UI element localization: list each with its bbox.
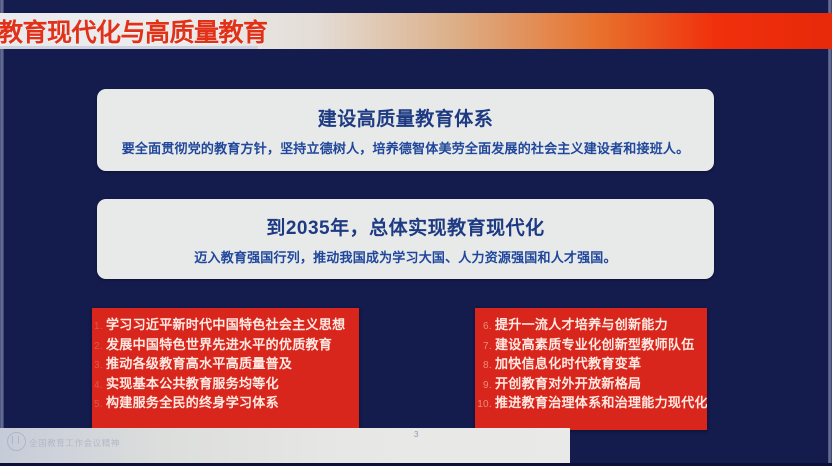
list-item: 3. 推动各级教育高水平高质量普及 — [92, 353, 359, 373]
list-item: 10. 推进教育治理体系和治理能力现代化 — [477, 392, 707, 412]
organization-logo-icon — [7, 432, 26, 451]
list-item-number: 1. — [92, 321, 103, 332]
info-card-education-system: 建设高质量教育体系 要全面贯彻党的教育方针，坚持立德树人，培养德智体美劳全面发展… — [97, 89, 714, 171]
list-item: 1. 学习习近平新时代中国特色社会主义思想 — [92, 314, 359, 334]
list-item-number: 2. — [92, 341, 103, 352]
list-item: 9. 开创教育对外开放新格局 — [477, 373, 707, 393]
page-title: 教育现代化与高质量教育 — [0, 13, 268, 49]
list-item-label: 提升一流人才培养与创新能力 — [495, 314, 668, 333]
list-item-label: 学习习近平新时代中国特色社会主义思想 — [106, 314, 345, 333]
list-item-number: 6. — [477, 321, 492, 332]
list-item: 8. 加快信息化时代教育变革 — [477, 353, 707, 373]
list-item-number: 9. — [477, 380, 492, 391]
list-item-number: 7. — [477, 341, 492, 352]
slide-left-edge — [0, 0, 4, 466]
list-item: 7. 建设高素质专业化创新型教师队伍 — [477, 334, 707, 354]
title-underline — [0, 46, 258, 49]
list-item-label: 实现基本公共教育服务均等化 — [106, 373, 279, 392]
red-list-box-left: 1. 学习习近平新时代中国特色社会主义思想 2. 发展中国特色世界先进水平的优质… — [92, 308, 359, 430]
list-item-number: 4. — [92, 380, 103, 391]
list-item-number: 5. — [92, 399, 103, 410]
list-item-label: 加快信息化时代教育变革 — [495, 353, 641, 372]
card-body: 迈入教育强国行列，推动我国成为学习大国、人力资源强国和人才强国。 — [194, 247, 616, 266]
card-body: 要全面贯彻党的教育方针，坚持立德树人，培养德智体美劳全面发展的社会主义建设者和接… — [122, 138, 690, 157]
list-item-label: 推进教育治理体系和治理能力现代化 — [495, 392, 707, 411]
list-item-label: 发展中国特色世界先进水平的优质教育 — [106, 334, 332, 353]
list-item: 6. 提升一流人才培养与创新能力 — [477, 314, 707, 334]
list-item-number: 10. — [477, 399, 492, 410]
list-item-label: 推动各级教育高水平高质量普及 — [106, 353, 292, 372]
slide-top-edge — [0, 0, 832, 11]
slide-canvas: 教育现代化与高质量教育 建设高质量教育体系 要全面贯彻党的教育方针，坚持立德树人… — [0, 0, 832, 466]
footer-band: 全国教育工作会议精神 — [0, 428, 570, 463]
slide-title-banner: 教育现代化与高质量教育 — [0, 13, 832, 49]
footer-organization-label: 全国教育工作会议精神 — [29, 437, 120, 449]
page-number: 3 — [414, 430, 418, 439]
list-item: 2. 发展中国特色世界先进水平的优质教育 — [92, 334, 359, 354]
slide-right-edge — [828, 0, 832, 466]
list-item-label: 建设高素质专业化创新型教师队伍 — [495, 334, 695, 353]
list-item-number: 3. — [92, 360, 103, 371]
red-list-box-right: 6. 提升一流人才培养与创新能力 7. 建设高素质专业化创新型教师队伍 8. 加… — [475, 308, 707, 430]
list-item-label: 开创教育对外开放新格局 — [495, 373, 641, 392]
list-item-label: 构建服务全民的终身学习体系 — [106, 392, 279, 411]
card-heading: 到2035年，总体实现教育现代化 — [266, 213, 544, 240]
list-item: 4. 实现基本公共教育服务均等化 — [92, 373, 359, 393]
list-item-number: 8. — [477, 360, 492, 371]
list-item: 5. 构建服务全民的终身学习体系 — [92, 392, 359, 412]
card-heading: 建设高质量教育体系 — [318, 104, 494, 131]
info-card-2035-goal: 到2035年，总体实现教育现代化 迈入教育强国行列，推动我国成为学习大国、人力资… — [97, 199, 714, 279]
